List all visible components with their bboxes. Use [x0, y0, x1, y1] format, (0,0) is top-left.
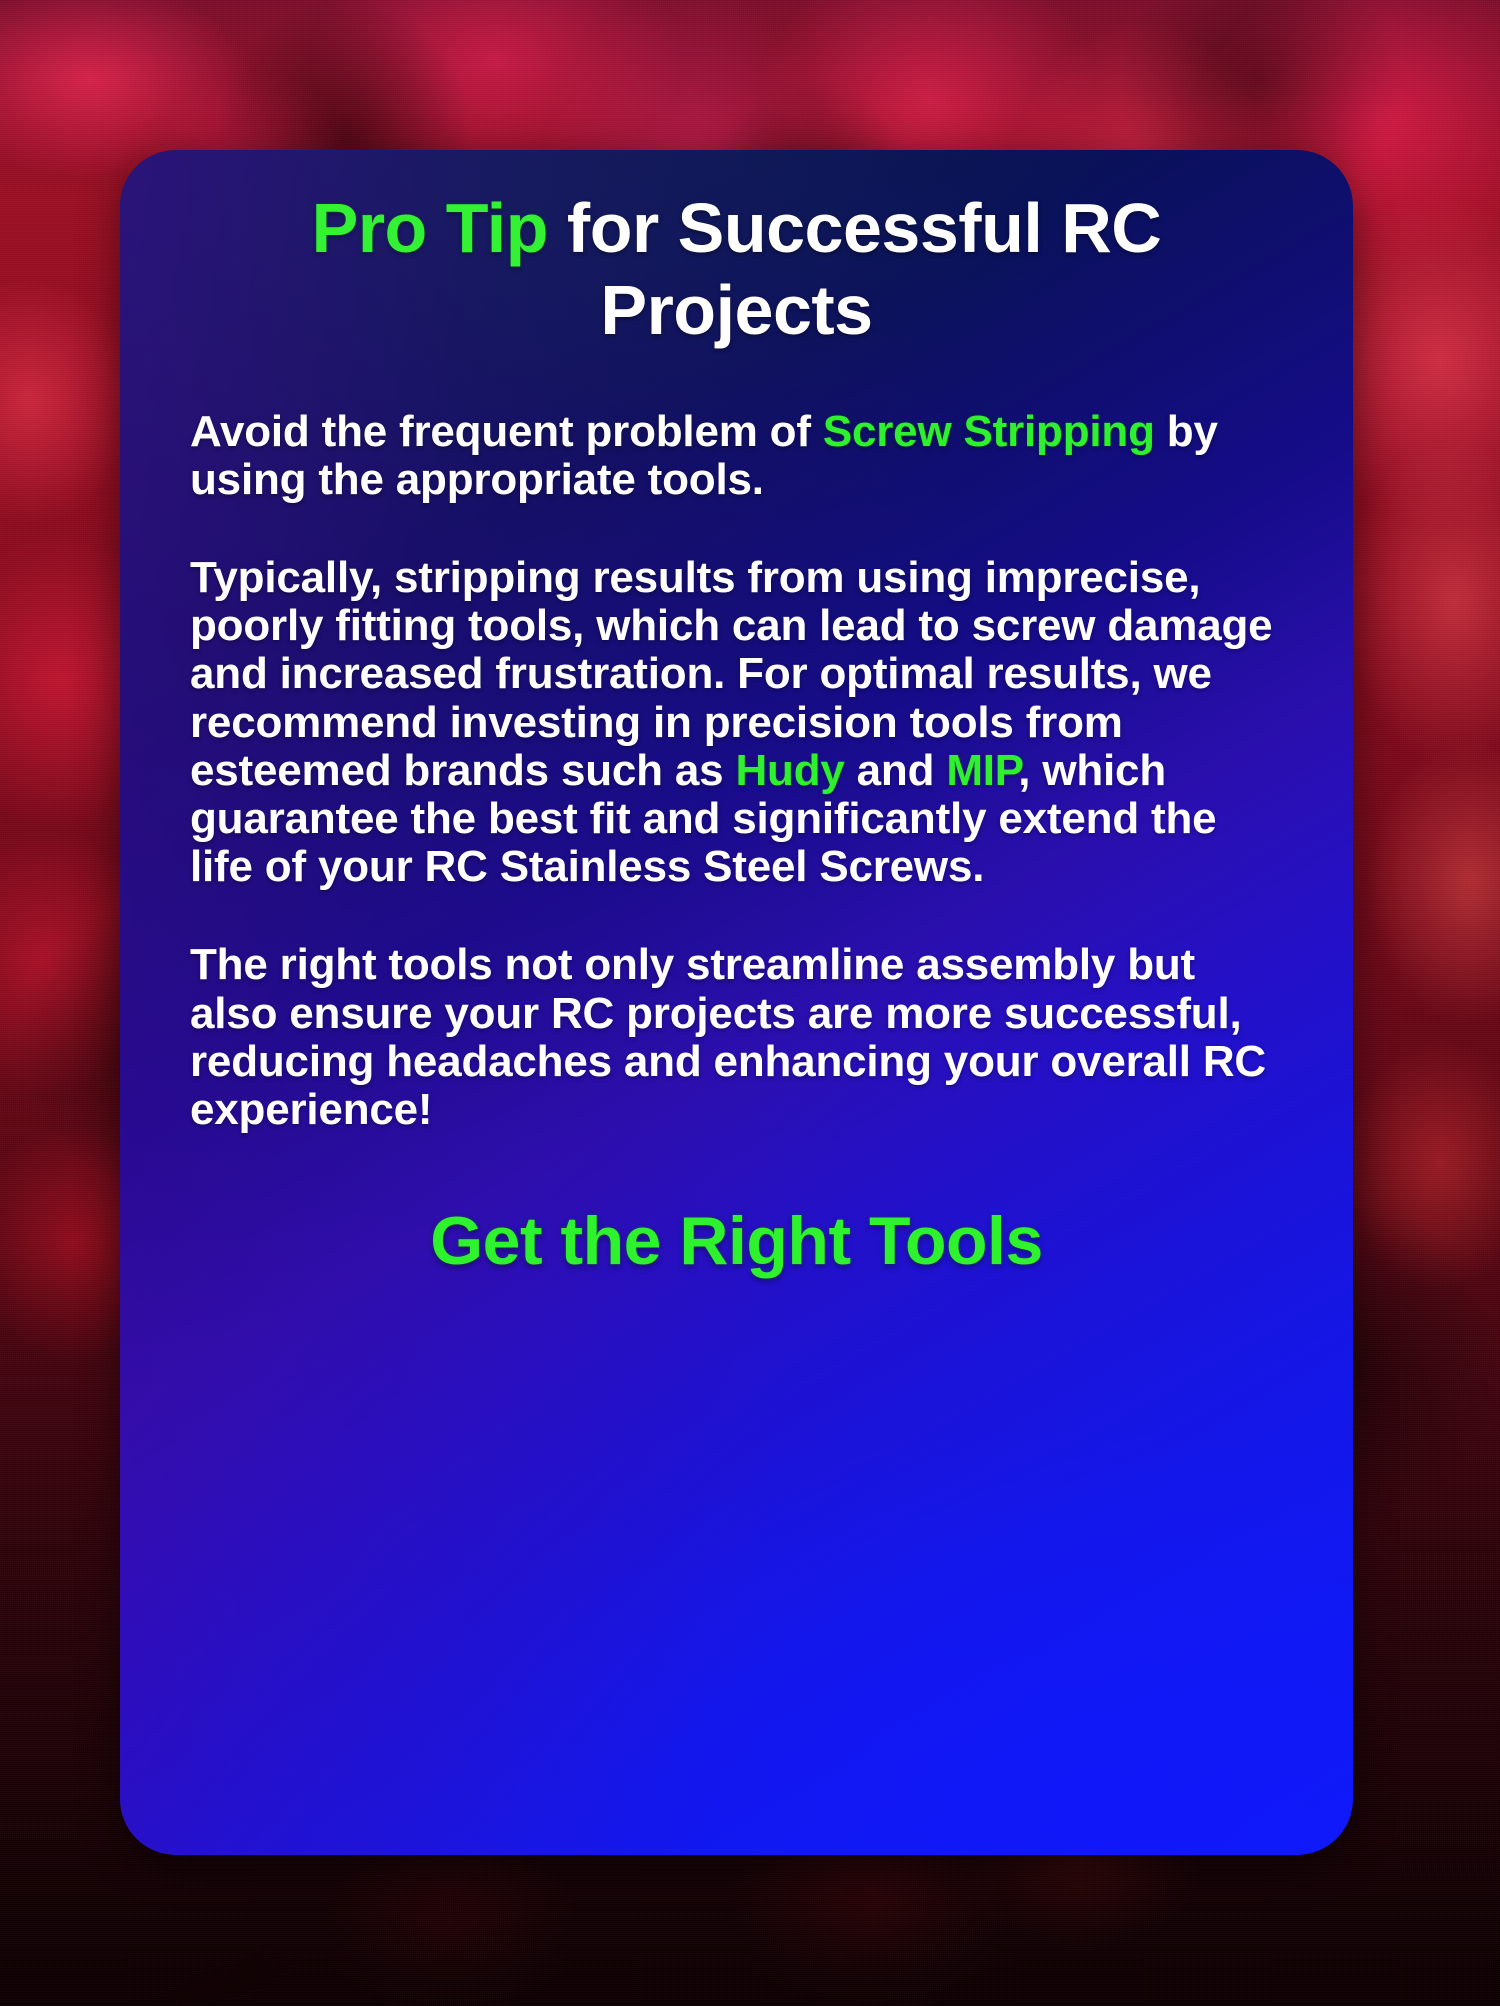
paragraph-1-segment-2: Screw Stripping	[823, 407, 1155, 456]
paragraph-1-segment-1: Avoid the frequent problem of	[190, 407, 823, 456]
tip-card: Pro Tip for Successful RC Projects Avoid…	[120, 150, 1353, 1855]
poster-canvas: Pro Tip for Successful RC Projects Avoid…	[0, 0, 1500, 2006]
paragraph-3-segment-1: The right tools not only streamline asse…	[190, 940, 1266, 1134]
headline-highlight: Pro Tip	[312, 189, 548, 267]
cta-button[interactable]: Get the Right Tools	[184, 1202, 1289, 1280]
paragraph-3: The right tools not only streamline asse…	[190, 941, 1275, 1134]
page-title: Pro Tip for Successful RC Projects	[184, 188, 1289, 352]
headline-rest: for Successful RC Projects	[548, 189, 1161, 349]
paragraph-2-segment-4: MIP	[946, 746, 1018, 795]
silhouette-branch-icon	[150, 1936, 380, 2006]
paragraph-2: Typically, stripping results from using …	[190, 554, 1275, 891]
paragraph-2-segment-2: Hudy	[735, 746, 844, 795]
body-text: Avoid the frequent problem of Screw Stri…	[184, 408, 1289, 1134]
paragraph-2-segment-3: and	[845, 746, 947, 795]
card-content: Pro Tip for Successful RC Projects Avoid…	[120, 150, 1353, 1855]
paragraph-1: Avoid the frequent problem of Screw Stri…	[190, 408, 1275, 504]
